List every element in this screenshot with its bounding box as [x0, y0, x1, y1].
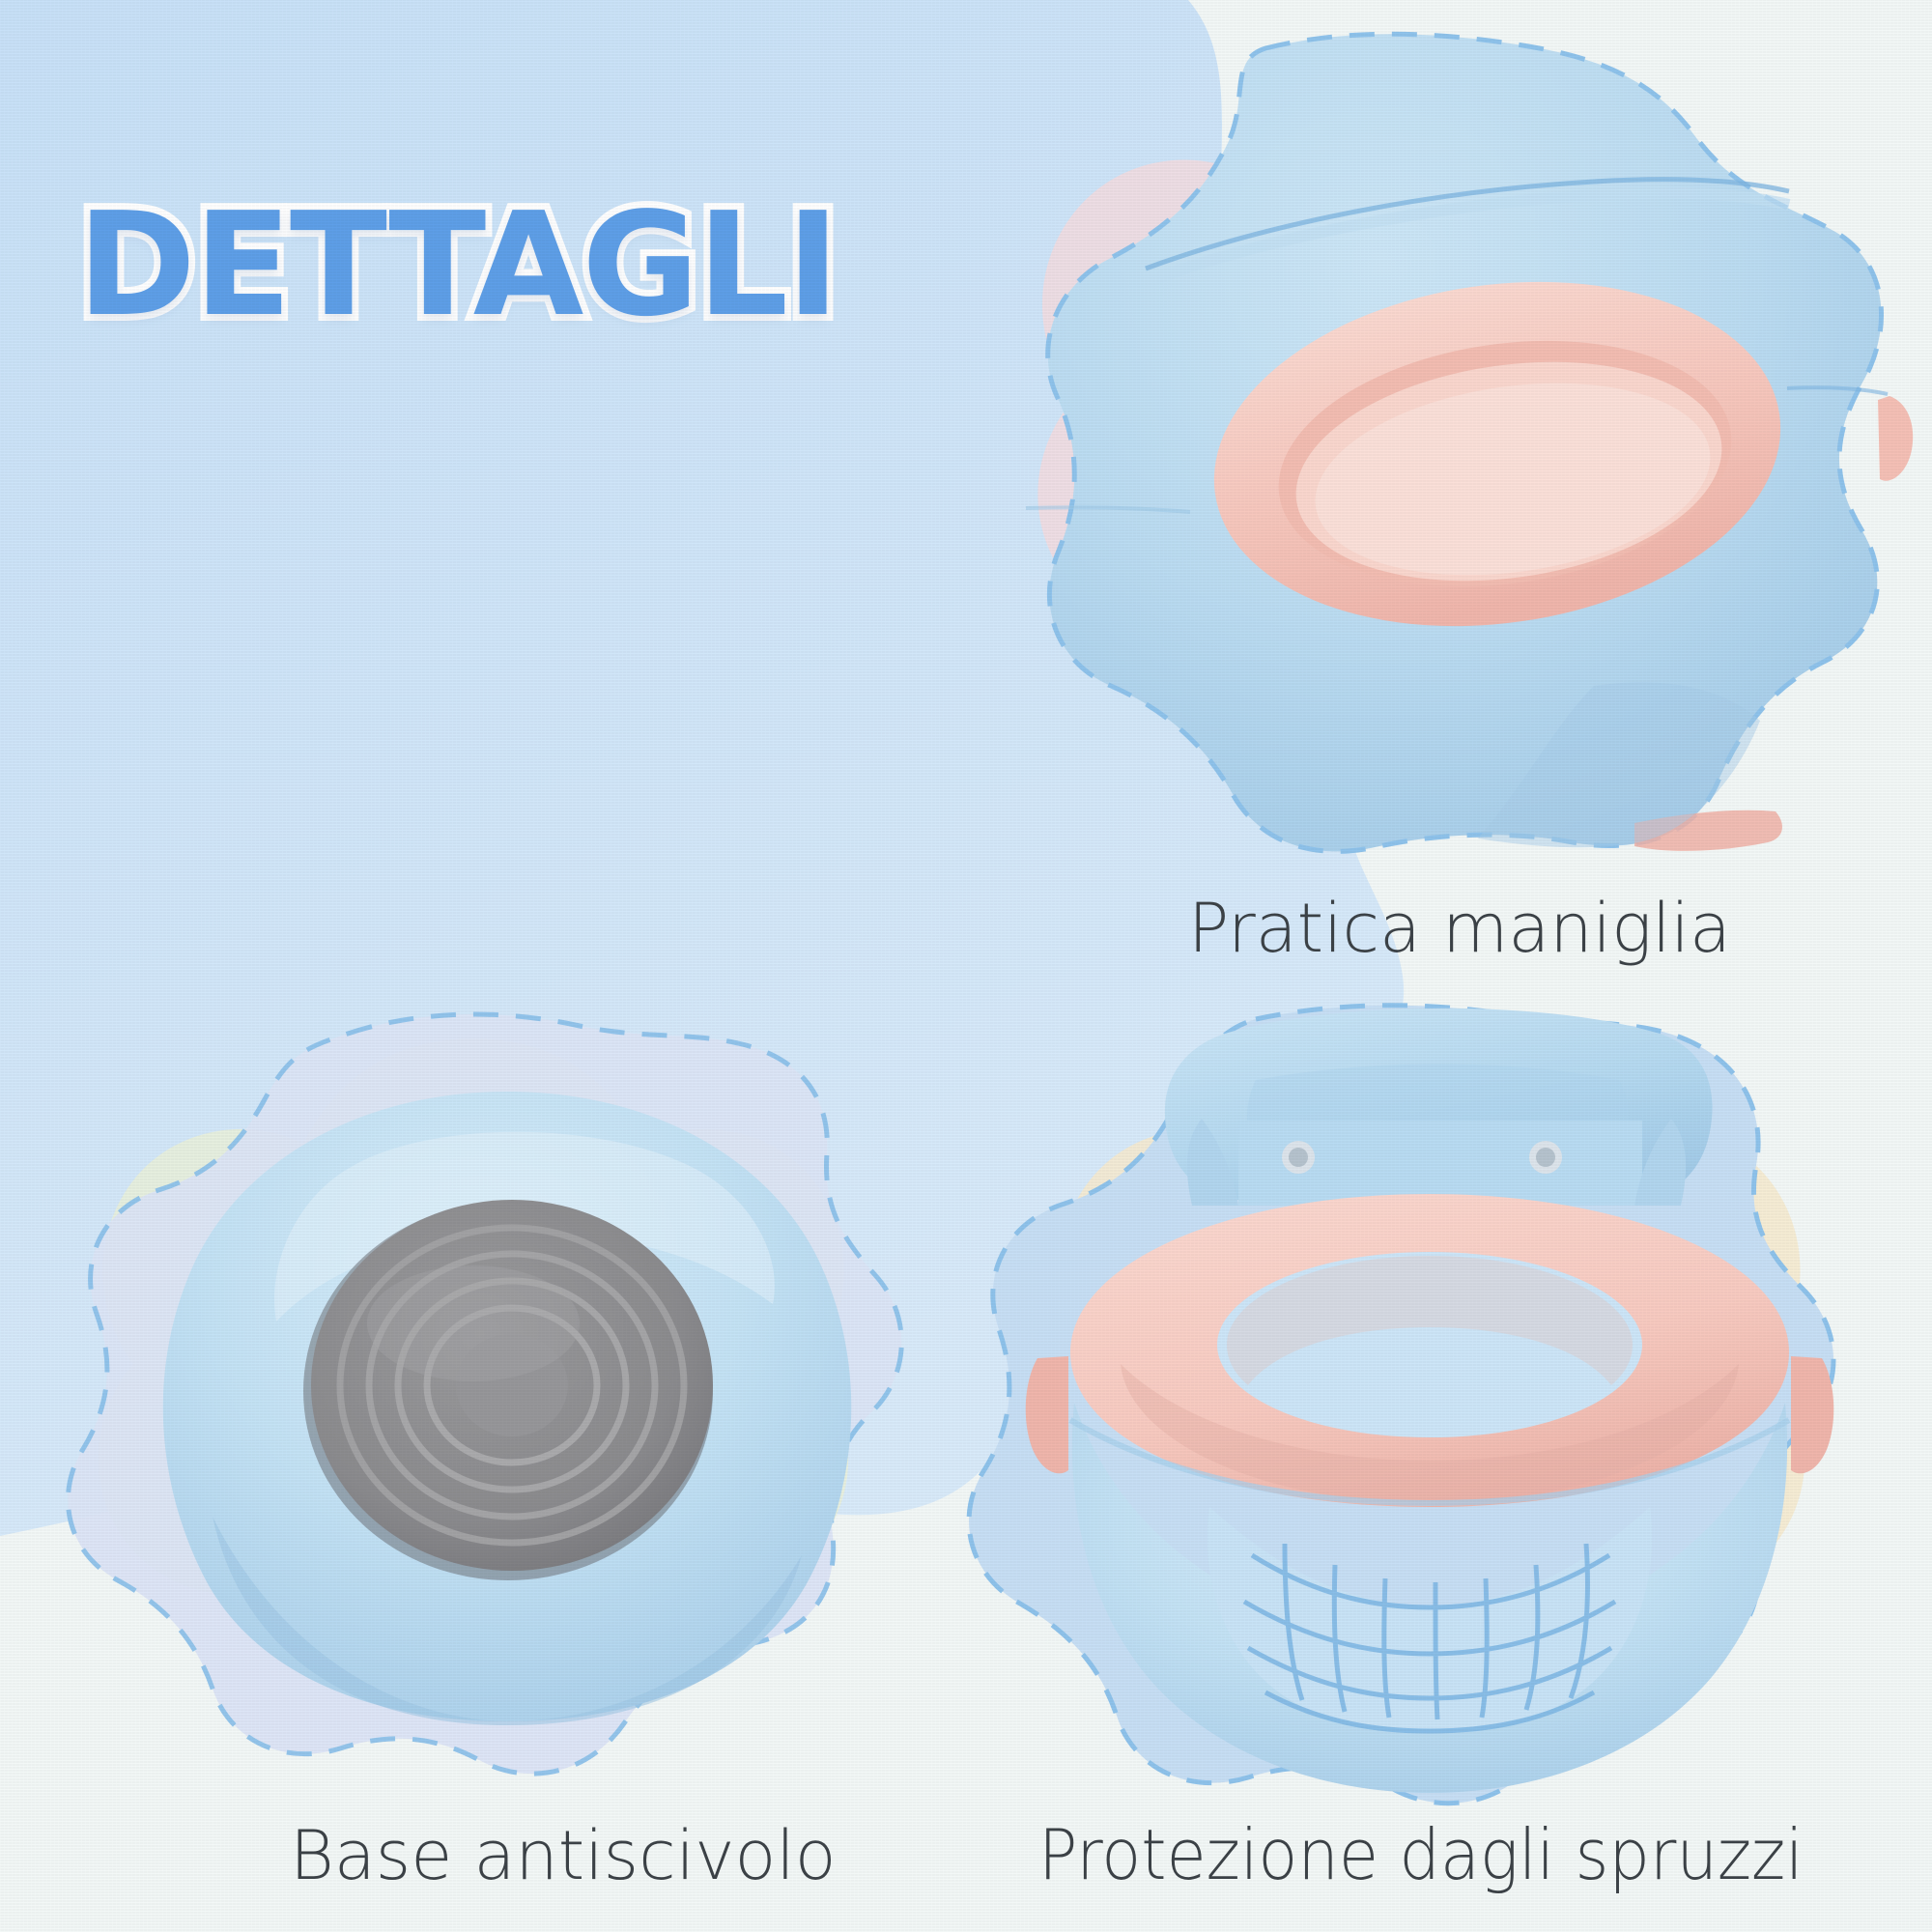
infographic-canvas: DETTAGLI Pratica maniglia Base antiscivo…	[0, 0, 1932, 1932]
product-photo-splash-guard	[966, 966, 1893, 1816]
page-title-wrap: DETTAGLI	[77, 193, 838, 336]
caption-pratica-maniglia: Pratica maniglia	[1188, 889, 1731, 968]
pink-seat-ring	[1070, 1194, 1789, 1507]
caption-protezione-dagli-spruzzi: Protezione dagli spruzzi	[1038, 1814, 1804, 1895]
page-title: DETTAGLI	[77, 193, 838, 336]
product-photo-handle	[976, 10, 1922, 889]
caption-base-antiscivolo: Base antiscivolo	[290, 1816, 837, 1895]
pink-tab-right	[1791, 1356, 1833, 1473]
product-photo-nonslip-base	[58, 976, 956, 1806]
pink-side-tab-right	[1878, 396, 1913, 481]
nonslip-pad	[303, 1200, 713, 1580]
